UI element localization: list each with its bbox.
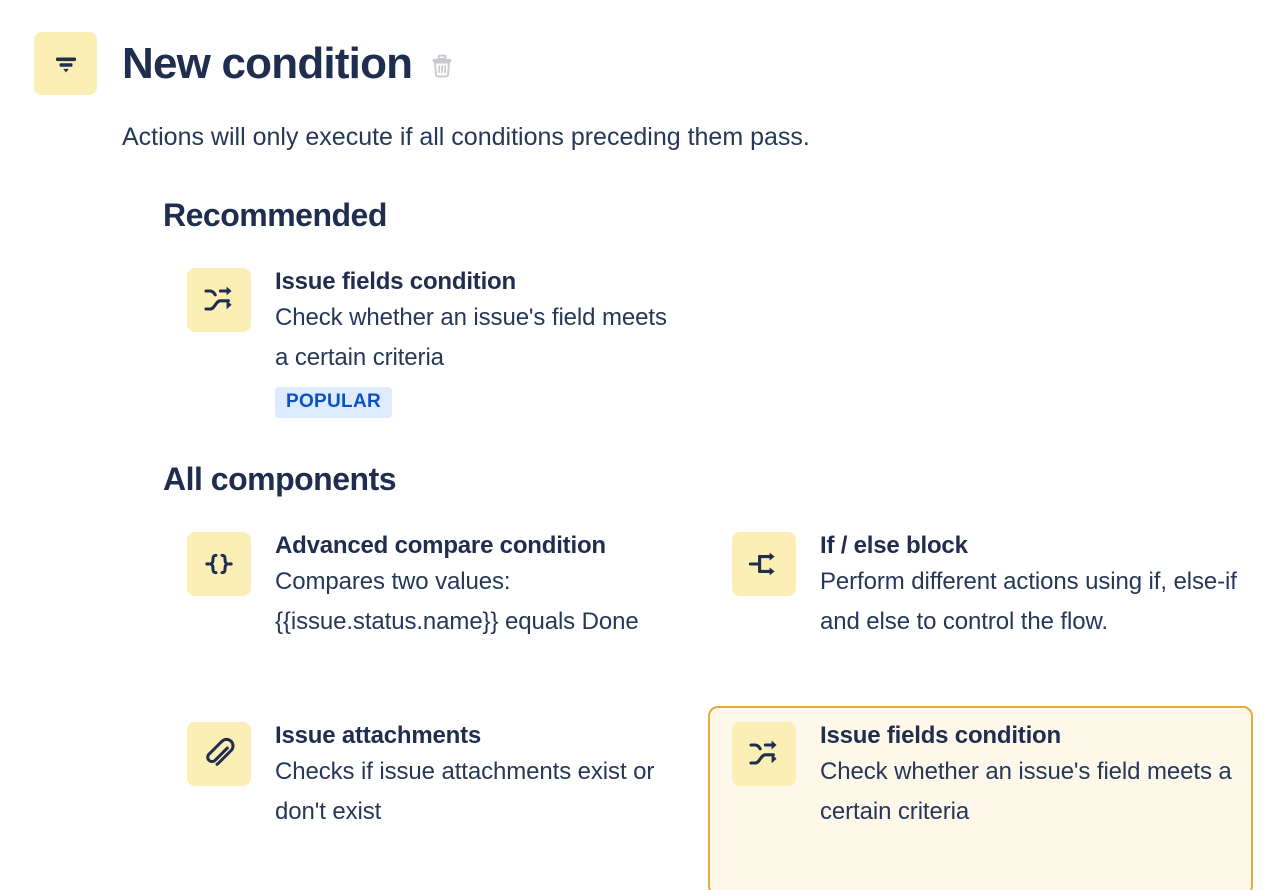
curly-braces-icon-tile bbox=[187, 532, 251, 596]
component-card-text: Issue fields condition Check whether an … bbox=[275, 265, 675, 418]
section-all-components: All components Advanced compare co bbox=[163, 458, 1253, 890]
page-title-wrap: New condition bbox=[122, 32, 455, 95]
shuffle-icon-tile bbox=[187, 268, 251, 332]
component-description: Check whether an issue's field meets a c… bbox=[275, 298, 675, 378]
branch-icon bbox=[747, 547, 781, 581]
component-title: Issue attachments bbox=[275, 720, 694, 752]
all-components-grid: Advanced compare condition Compares two … bbox=[163, 516, 1253, 890]
shuffle-icon bbox=[747, 737, 781, 771]
paperclip-icon bbox=[202, 737, 236, 771]
component-title: Issue fields condition bbox=[820, 720, 1239, 752]
recommended-grid: Issue fields condition Check whether an … bbox=[163, 252, 1253, 431]
component-title: Issue fields condition bbox=[275, 266, 675, 298]
filter-icon-tile bbox=[34, 32, 97, 95]
shuffle-icon-tile bbox=[732, 722, 796, 786]
component-description: Checks if issue attachments exist or don… bbox=[275, 752, 694, 832]
component-card-issue-fields-condition-selected[interactable]: Issue fields condition Check whether an … bbox=[708, 706, 1253, 890]
page-header: New condition bbox=[34, 32, 455, 95]
trash-icon bbox=[431, 54, 453, 78]
filter-icon bbox=[50, 48, 82, 80]
component-description: Check whether an issue's field meets a c… bbox=[820, 752, 1239, 832]
component-description: Compares two values: {{issue.status.name… bbox=[275, 562, 694, 642]
component-card-text: Advanced compare condition Compares two … bbox=[275, 529, 694, 642]
component-card-text: Issue fields condition Check whether an … bbox=[820, 719, 1239, 832]
component-title: If / else block bbox=[820, 530, 1239, 562]
section-title-all-components: All components bbox=[163, 458, 1253, 500]
component-card-text: Issue attachments Checks if issue attach… bbox=[275, 719, 694, 832]
section-recommended: Recommended Issue fields condition bbox=[163, 194, 1253, 431]
component-title: Advanced compare condition bbox=[275, 530, 694, 562]
shuffle-icon bbox=[202, 283, 236, 317]
branch-icon-tile bbox=[732, 532, 796, 596]
component-description: Perform different actions using if, else… bbox=[820, 562, 1239, 642]
condition-picker-page: New condition Actions will only execute … bbox=[0, 0, 1288, 890]
component-card-text: If / else block Perform different action… bbox=[820, 529, 1239, 642]
curly-braces-icon bbox=[202, 547, 236, 581]
paperclip-icon-tile bbox=[187, 722, 251, 786]
page-title: New condition bbox=[122, 42, 412, 86]
status-badge: POPULAR bbox=[275, 387, 392, 418]
page-subtitle: Actions will only execute if all conditi… bbox=[122, 120, 810, 154]
trash-icon-button[interactable] bbox=[429, 51, 455, 81]
component-card-advanced-compare-condition[interactable]: Advanced compare condition Compares two … bbox=[163, 516, 708, 706]
component-card-issue-fields-condition[interactable]: Issue fields condition Check whether an … bbox=[163, 252, 708, 431]
component-card-if-else-block[interactable]: If / else block Perform different action… bbox=[708, 516, 1253, 706]
section-title-recommended: Recommended bbox=[163, 194, 1253, 236]
component-card-issue-attachments[interactable]: Issue attachments Checks if issue attach… bbox=[163, 706, 708, 890]
